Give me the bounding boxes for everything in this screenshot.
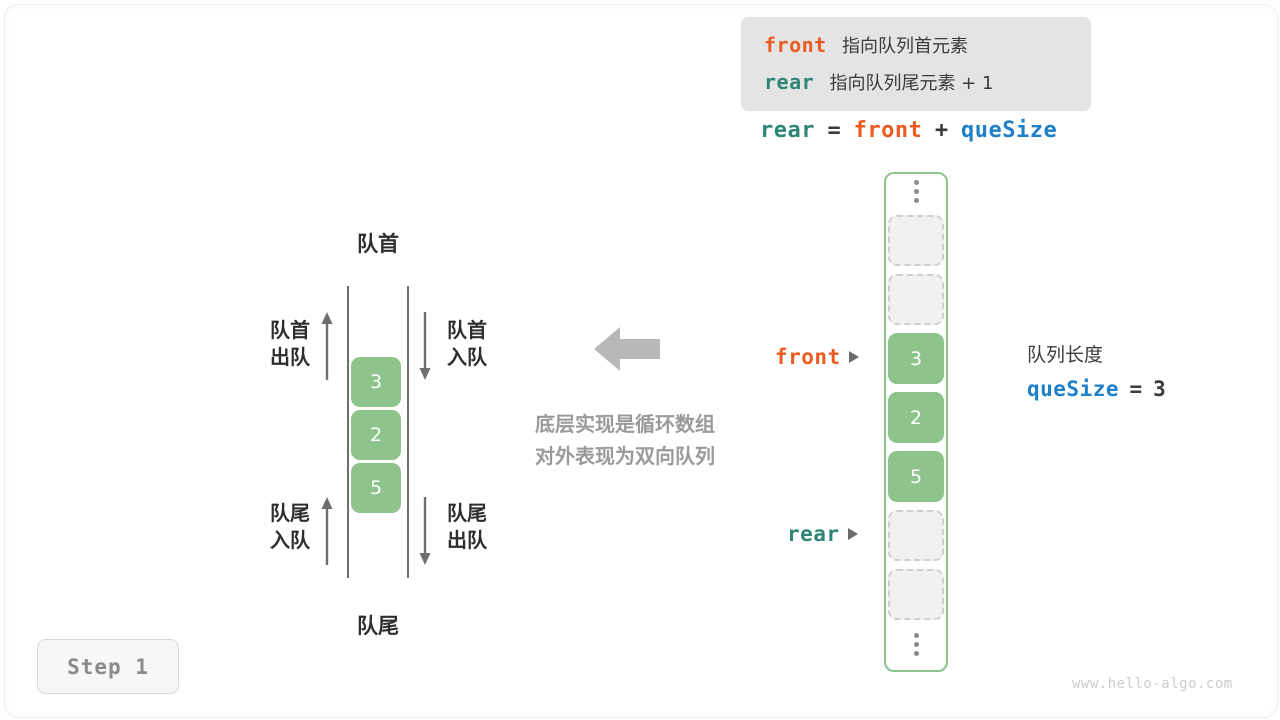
array-cell-4: 5 (888, 451, 944, 502)
pointer-rear: rear (787, 522, 858, 546)
array-cell-1 (888, 274, 944, 325)
deque-title-front: 队首 (348, 228, 408, 258)
legend-front-token: front (764, 33, 827, 57)
op-label-line1: 队首 (447, 317, 517, 344)
dot (914, 642, 919, 647)
arrow-up-rear-push-icon (320, 497, 334, 565)
dot (914, 651, 919, 656)
formula-operand-quesize: queSize (961, 118, 1057, 143)
diagram-canvas: front 指向队列首元素 rear 指向队列尾元素 + 1 rear = fr… (0, 0, 1280, 720)
legend-rear-description: 指向队列尾元素 + 1 (829, 73, 993, 94)
quesize-equals: = (1129, 377, 1142, 401)
op-label-front-push: 队首 入队 (447, 317, 517, 371)
array-cell-2: 3 (888, 333, 944, 384)
dot (914, 198, 919, 203)
dot (914, 189, 919, 194)
legend-row-rear: rear 指向队列尾元素 + 1 (764, 69, 993, 95)
op-label-line1: 队尾 (240, 500, 310, 527)
arrow-down-front-push-icon (418, 312, 432, 380)
deque-rail-right (407, 286, 409, 578)
watermark: www.hello-algo.com (1072, 676, 1233, 692)
deque-cell-value: 3 (370, 371, 382, 393)
deque-title-rear: 队尾 (348, 610, 408, 640)
arrow-right-icon (849, 351, 859, 363)
pointer-front-label: front (775, 345, 841, 369)
array-cell-5 (888, 510, 944, 561)
quesize-annotation: 队列长度 queSize = 3 (1027, 340, 1166, 401)
array-cell-3: 2 (888, 392, 944, 443)
op-label-front-pop: 队首 出队 (240, 317, 310, 371)
op-label-rear-push: 队尾 入队 (240, 500, 310, 554)
formula-rear-equals-front-plus-quesize: rear = front + queSize (760, 118, 1057, 143)
array-ellipsis-bottom (908, 633, 924, 656)
quesize-caption: 队列长度 (1027, 340, 1166, 367)
dot (914, 633, 919, 638)
legend-rear-token: rear (764, 70, 814, 94)
formula-plus: + (935, 118, 949, 143)
arrow-right-icon (848, 528, 858, 540)
formula-equals: = (827, 118, 841, 143)
deque-cell-value: 2 (370, 424, 382, 446)
deque-cell-0: 3 (351, 357, 401, 407)
op-label-rear-pop: 队尾 出队 (447, 500, 517, 554)
pointer-front: front (775, 345, 859, 369)
array-cell-value: 3 (910, 348, 922, 370)
array-cell-0 (888, 215, 944, 266)
quesize-name: queSize (1027, 377, 1119, 401)
deque-cell-2: 5 (351, 463, 401, 513)
op-label-line2: 入队 (240, 527, 310, 554)
array-cell-6 (888, 569, 944, 620)
quesize-expression: queSize = 3 (1027, 377, 1166, 401)
op-label-line1: 队首 (240, 317, 310, 344)
legend-front-description: 指向队列首元素 (842, 36, 968, 57)
deque-cell-value: 5 (370, 477, 382, 499)
array-cell-value: 2 (910, 407, 922, 429)
middle-note-line1: 底层实现是循环数组 (505, 408, 745, 440)
arrow-down-rear-pop-icon (418, 497, 432, 565)
op-label-line2: 入队 (447, 344, 517, 371)
legend-row-front: front 指向队列首元素 (764, 32, 968, 58)
deque-cell-1: 2 (351, 410, 401, 460)
quesize-value: 3 (1153, 377, 1166, 401)
deque-rail-left (347, 286, 349, 578)
middle-note: 底层实现是循环数组 对外表现为双向队列 (505, 408, 745, 472)
array-cell-value: 5 (910, 466, 922, 488)
middle-note-line2: 对外表现为双向队列 (505, 440, 745, 472)
arrow-left-large-icon (594, 325, 660, 373)
legend-box: front 指向队列首元素 rear 指向队列尾元素 + 1 (741, 17, 1091, 111)
arrow-up-front-pop-icon (320, 312, 334, 380)
pointer-rear-label: rear (787, 522, 840, 546)
step-badge: Step 1 (37, 639, 179, 694)
op-label-line1: 队尾 (447, 500, 517, 527)
array-ellipsis-top (908, 180, 924, 203)
op-label-line2: 出队 (447, 527, 517, 554)
formula-lhs: rear (760, 118, 815, 143)
op-label-line2: 出队 (240, 344, 310, 371)
dot (914, 180, 919, 185)
formula-operand-front: front (854, 118, 923, 143)
